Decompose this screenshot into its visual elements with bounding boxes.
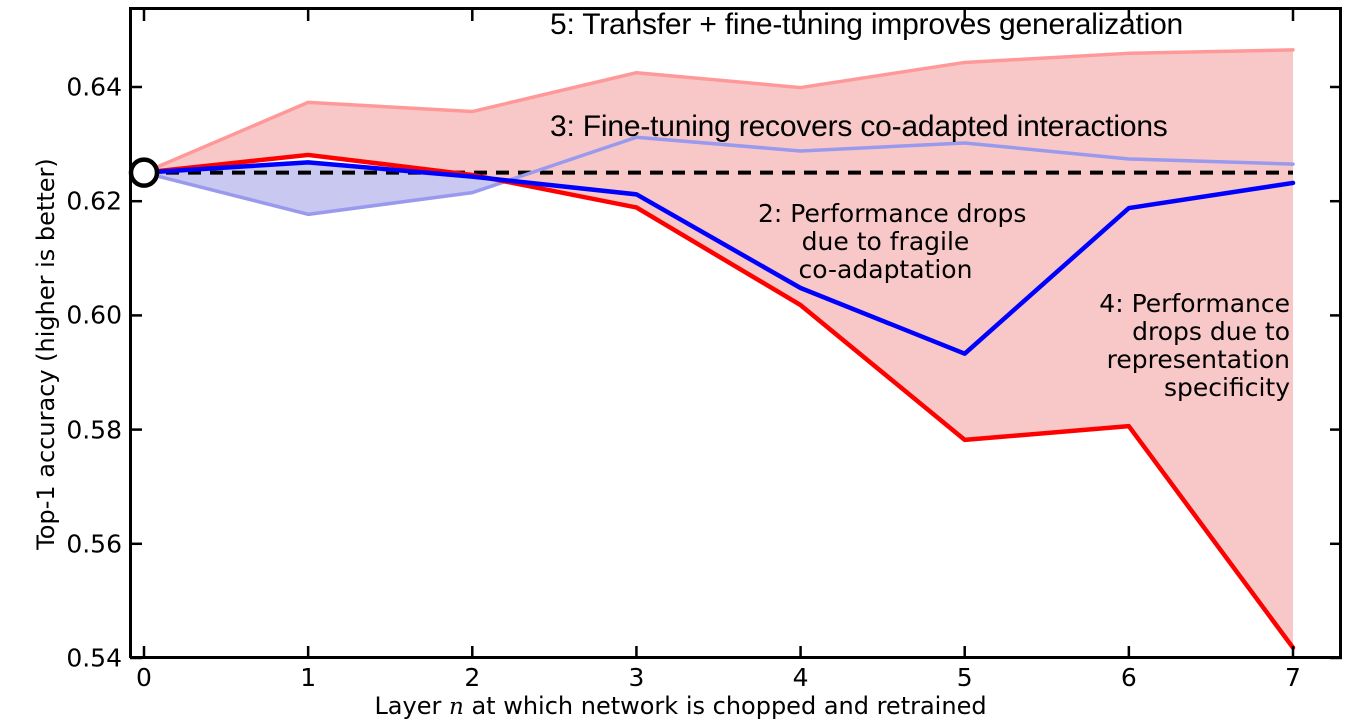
figure-canvas: 0.540.560.580.600.620.64 01234567 Layer … [0,0,1361,723]
y-tick-label-0.64: 0.64 [0,73,122,102]
xlabel-prefix: Layer [374,692,449,720]
x-tick-label-2: 2 [464,663,480,692]
x-tick-label-7: 7 [1285,663,1301,692]
y-tick-label-0.62: 0.62 [0,187,122,216]
y-tick-label-0.60: 0.60 [0,301,122,330]
annotation-2: 2: Performance drops due to fragile co-a… [758,200,1013,284]
origin-marker-circle [131,160,157,186]
xlabel-suffix: at which network is chopped and retraine… [464,692,987,720]
origin-marker [131,160,157,186]
annotation-3: 3: Fine-tuning recovers co-adapted inter… [550,110,1168,144]
xlabel-math-n: n [449,694,464,720]
y-axis-label: Top-1 accuracy (higher is better) [32,94,60,614]
annotation-4: 4: Performance drops due to representati… [1028,290,1290,402]
annotation-5: 5: Transfer + fine-tuning improves gener… [550,8,1183,42]
x-axis-label: Layer n at which network is chopped and … [0,692,1361,720]
x-tick-label-0: 0 [136,663,152,692]
y-tick-label-0.54: 0.54 [0,644,122,673]
y-tick-label-0.56: 0.56 [0,529,122,558]
y-tick-label-0.58: 0.58 [0,415,122,444]
x-tick-label-1: 1 [300,663,316,692]
x-tick-label-5: 5 [957,663,973,692]
x-tick-label-4: 4 [793,663,809,692]
x-tick-label-6: 6 [1121,663,1137,692]
x-tick-label-3: 3 [628,663,644,692]
